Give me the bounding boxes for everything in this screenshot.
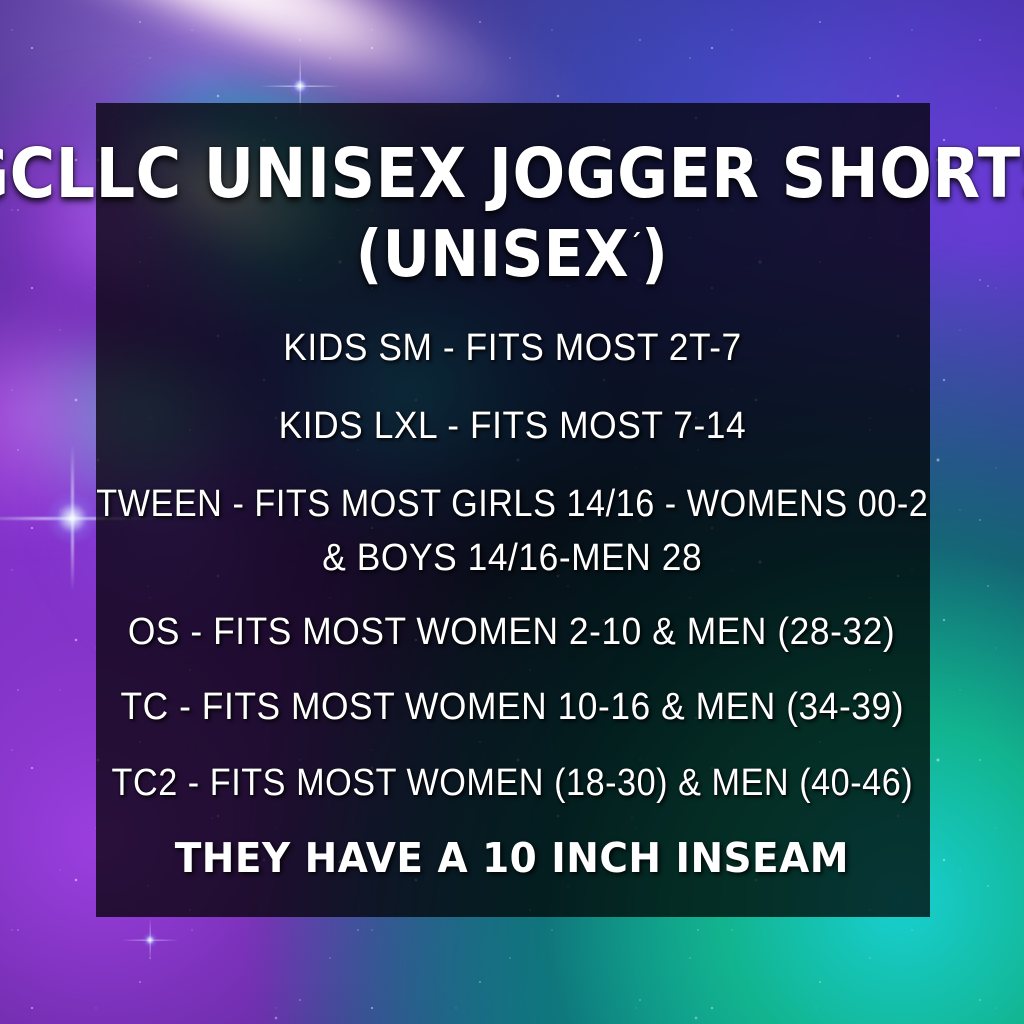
sizing-line-tween: TWEEN - FITS MOST GIRLS 14/16 - WOMENS 0… [96,485,928,525]
inseam-note: THEY HAVE A 10 INCH INSEAM [175,834,849,882]
galaxy-sizing-poster: GCLLC UNISEX JOGGER SHORTS (UNISEX´) KID… [0,0,1024,1024]
sizing-line-tc: TC - FITS MOST WOMEN 10-16 & MEN (34-39) [120,688,904,728]
sizing-line-kids-sm: KIDS SM - FITS MOST 2T-7 [283,329,741,369]
page-subtitle-mark: ´ [629,228,641,260]
sizing-line-tc2: TC2 - FITS MOST WOMEN (18-30) & MEN (40-… [111,764,913,804]
sizing-line-os: OS - FITS MOST WOMEN 2-10 & MEN (28-32) [128,613,895,653]
poster-text-stack: GCLLC UNISEX JOGGER SHORTS (UNISEX´) KID… [0,0,1024,1024]
sizing-line-kids-lxl: KIDS LXL - FITS MOST 7-14 [278,407,746,447]
page-title: GCLLC UNISEX JOGGER SHORTS [0,140,1024,208]
page-subtitle-close: ) [641,217,668,292]
page-subtitle-main: (UNISEX [356,217,629,292]
sizing-line-tween-continued: & BOYS 14/16-MEN 28 [322,539,702,579]
page-subtitle: (UNISEX´) [356,222,669,286]
